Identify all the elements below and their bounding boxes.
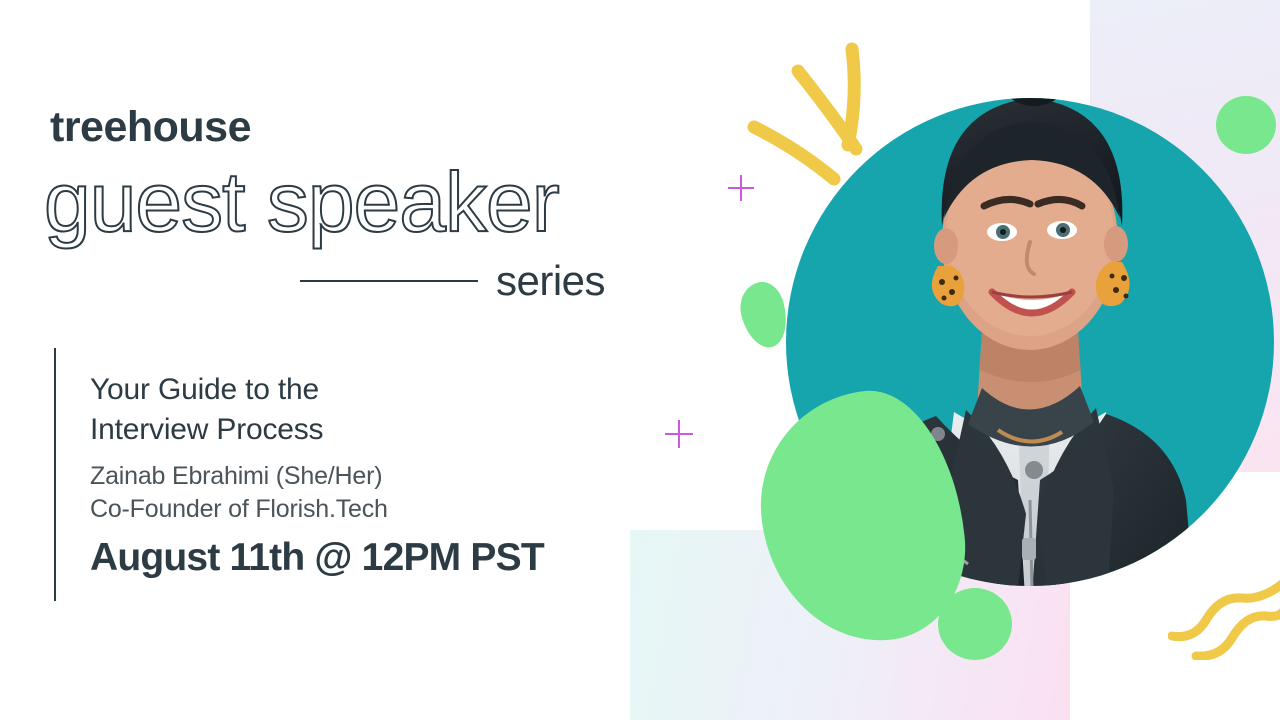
sparkle-rays-icon [740,35,900,205]
green-circle-low [938,588,1012,660]
promo-slide: treehouse guest speaker series Your Guid… [0,0,1280,720]
brand-wordmark: treehouse [50,106,251,149]
event-datetime: August 11th @ 12PM PST [90,537,544,580]
corner-squiggles-icon [1168,578,1280,660]
green-blob-small [735,278,794,353]
vertical-accent-rule [54,348,56,601]
series-label: series [496,260,605,302]
headline-outline-text: guest speaker [44,160,559,244]
speaker-role: Co-Founder of Florish.Tech [90,494,388,525]
series-row: series [300,258,630,304]
talk-title-line-1: Your Guide to the [90,370,560,410]
talk-title-line-2: Interview Process [90,410,560,450]
plus-mark-lower-icon [665,420,693,448]
speaker-name: Zainab Ebrahimi (She/Her) [90,461,382,492]
series-divider-rule [300,280,478,282]
talk-title: Your Guide to the Interview Process [90,370,560,449]
